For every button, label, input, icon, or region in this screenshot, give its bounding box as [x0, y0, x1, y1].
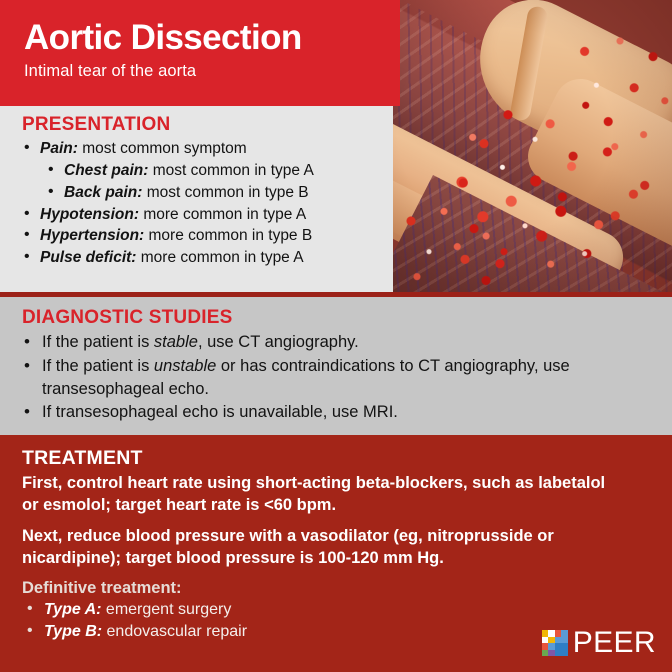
treatment-paragraph-2: Next, reduce blood pressure with a vasod…	[22, 526, 622, 570]
diagnostic-item-text: If the patient is	[42, 333, 154, 351]
presentation-item-lead: Pain:	[40, 140, 78, 157]
diagnostic-item-text-tail: , use CT angiography.	[198, 333, 359, 351]
diagnostic-studies-section: DIAGNOSTIC STUDIES If the patient is sta…	[0, 297, 672, 435]
peer-wordmark: PEER	[573, 628, 656, 658]
diagnostic-item-emphasis: stable	[154, 333, 198, 351]
definitive-treatment-item-text: emergent surgery	[101, 601, 231, 618]
presentation-item-text: most common symptom	[78, 140, 247, 157]
presentation-item-lead: Pulse deficit:	[40, 249, 136, 266]
aorta-dissection-illustration	[393, 0, 672, 292]
presentation-item-text: more common in type A	[139, 206, 306, 223]
presentation-item: Pulse deficit: more common in type A	[22, 247, 387, 269]
treatment-heading: TREATMENT	[22, 447, 654, 470]
definitive-treatment-label: Definitive treatment:	[22, 579, 654, 598]
diagnostic-item: If transesophageal echo is unavailable, …	[22, 401, 654, 424]
page-subtitle: Intimal tear of the aorta	[24, 62, 400, 81]
presentation-list: Pain: most common symptomChest pain: mos…	[22, 138, 387, 269]
presentation-section: PRESENTATION Pain: most common symptomCh…	[0, 106, 393, 292]
treatment-paragraph-1: First, control heart rate using short-ac…	[22, 473, 622, 517]
header-banner: Aortic Dissection Intimal tear of the ao…	[0, 0, 400, 106]
definitive-treatment-item-lead: Type B:	[44, 623, 102, 640]
presentation-item: Back pain: most common in type B	[22, 182, 387, 204]
presentation-item-lead: Hypertension:	[40, 227, 144, 244]
peer-mosaic-cell	[561, 650, 568, 657]
presentation-item: Chest pain: most common in type A	[22, 160, 387, 182]
presentation-item-lead: Back pain:	[64, 184, 142, 201]
diagnostic-studies-heading: DIAGNOSTIC STUDIES	[22, 307, 654, 329]
presentation-item-text: most common in type A	[148, 162, 313, 179]
diagnostic-item-text: If the patient is	[42, 357, 154, 375]
diagnostic-item-text: If transesophageal echo is unavailable, …	[42, 403, 398, 421]
presentation-item-lead: Chest pain:	[64, 162, 148, 179]
diagnostic-studies-list: If the patient is stable, use CT angiogr…	[22, 331, 654, 424]
diagnostic-item-emphasis: unstable	[154, 357, 216, 375]
treatment-section: TREATMENT First, control heart rate usin…	[0, 435, 672, 672]
definitive-treatment-item-lead: Type A:	[44, 601, 101, 618]
infographic-card: Credit: 7activestudio/iStock/Getty Image…	[0, 0, 672, 672]
diagnostic-item: If the patient is unstable or has contra…	[22, 355, 654, 401]
presentation-item: Hypertension: more common in type B	[22, 225, 387, 247]
definitive-treatment-item-text: endovascular repair	[102, 623, 247, 640]
presentation-item: Hypotension: more common in type A	[22, 204, 387, 226]
presentation-item-lead: Hypotension:	[40, 206, 139, 223]
presentation-heading: PRESENTATION	[22, 114, 387, 136]
red-blood-cells-trail	[393, 196, 543, 292]
definitive-treatment-item: Type A: emergent surgery	[22, 599, 654, 622]
page-title: Aortic Dissection	[24, 19, 400, 57]
diagnostic-item: If the patient is stable, use CT angiogr…	[22, 331, 654, 354]
peer-mosaic-icon	[542, 630, 568, 656]
presentation-item: Pain: most common symptom	[22, 138, 387, 160]
presentation-item-text: more common in type A	[136, 249, 303, 266]
presentation-item-text: most common in type B	[142, 184, 308, 201]
presentation-item-text: more common in type B	[144, 227, 312, 244]
peer-logo: PEER	[542, 628, 656, 658]
